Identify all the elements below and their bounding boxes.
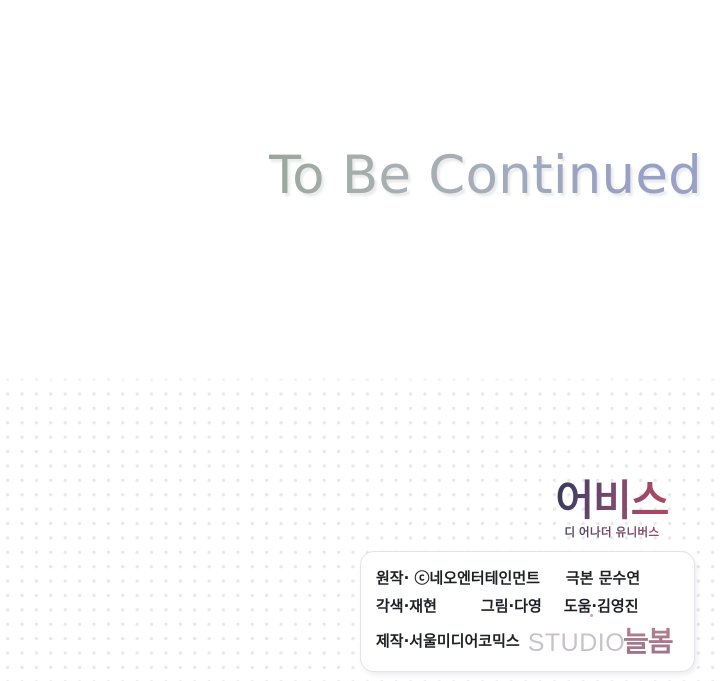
to-be-continued-text: To Be Continued xyxy=(269,143,702,209)
dot-grid-fade-overlay xyxy=(0,362,720,392)
credits-row-original: 원작· ⓒ네오엔터테인먼트 극본 문수연 xyxy=(361,564,711,590)
credit-adaptation: 각색·재현 xyxy=(376,595,437,616)
series-title-subtitle: 디 어나더 유니버스 xyxy=(536,526,688,540)
credit-production: 제작·서울미디어코믹스 xyxy=(376,630,520,651)
series-title-logo: 어비스 디 어나더 유니버스 xyxy=(536,478,688,548)
to-be-continued-headline: To Be Continued To Be Continued xyxy=(0,143,720,209)
credit-script: 극본 문수연 xyxy=(566,567,640,588)
webtoon-end-page: To Be Continued To Be Continued 어비스 디 어나… xyxy=(0,0,720,681)
studio-name-korean: 늘봄 xyxy=(623,620,673,660)
credits-row-staff: 각색·재현 그림·다영 도움·김영진 xyxy=(361,592,711,618)
credit-art: 그림·다영 xyxy=(481,595,542,616)
credit-assistant: 도움·김영진 xyxy=(564,595,639,616)
studio-wordmark: STUDIO xyxy=(528,629,625,658)
credit-original-work: 원작· ⓒ네오엔터테인먼트 xyxy=(376,567,540,588)
credits-row-production: 제작·서울미디어코믹스 STUDIO 늘봄 xyxy=(361,620,711,660)
credits-card: 원작· ⓒ네오엔터테인먼트 극본 문수연 각색·재현 그림·다영 도움·김영진 … xyxy=(360,551,695,672)
series-title-main: 어비스 xyxy=(536,478,688,524)
studio-neulbom-logo: STUDIO 늘봄 xyxy=(528,620,673,660)
